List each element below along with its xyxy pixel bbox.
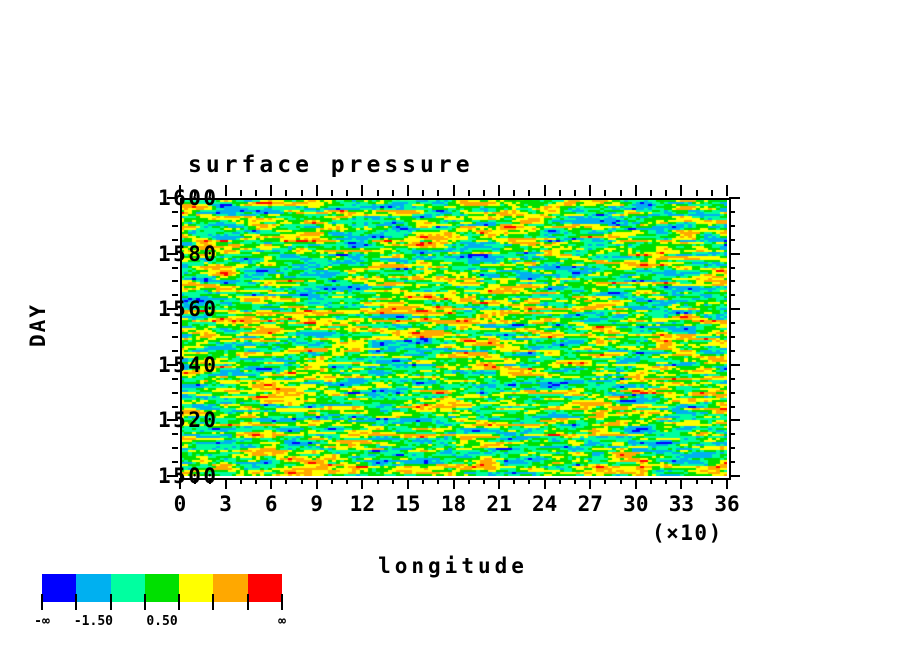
x-minor-tick-top bbox=[650, 190, 652, 196]
x-minor-tick-top bbox=[331, 190, 333, 196]
x-minor-tick-bottom bbox=[665, 478, 667, 484]
y-minor-tick-right bbox=[729, 378, 735, 380]
y-minor-tick-left bbox=[172, 294, 178, 296]
x-tick-label: 15 bbox=[395, 492, 420, 516]
y-minor-tick-left bbox=[172, 225, 178, 227]
colorbar-tick bbox=[178, 594, 180, 610]
heatmap-plot-area bbox=[180, 198, 727, 476]
x-tick-label: 30 bbox=[623, 492, 648, 516]
y-minor-tick-right bbox=[729, 267, 735, 269]
x-minor-tick-bottom bbox=[392, 478, 394, 484]
y-minor-tick-left bbox=[172, 392, 178, 394]
colorbar-band-orange bbox=[213, 574, 247, 602]
x-minor-tick-top bbox=[483, 190, 485, 196]
x-minor-tick-bottom bbox=[255, 478, 257, 484]
x-major-tick-bottom bbox=[316, 478, 318, 489]
x-minor-tick-top bbox=[711, 190, 713, 196]
y-major-tick-right bbox=[729, 197, 740, 199]
x-axis-multiplier-note: (×10) bbox=[652, 521, 723, 545]
colorbar-tick bbox=[41, 594, 43, 610]
colorbar-band-blue bbox=[42, 574, 76, 602]
x-tick-label: 9 bbox=[310, 492, 323, 516]
x-minor-tick-top bbox=[665, 190, 667, 196]
y-minor-tick-right bbox=[729, 294, 735, 296]
figure-canvas: surface pressure 0369121518212427303336 … bbox=[0, 0, 904, 654]
x-minor-tick-top bbox=[422, 190, 424, 196]
colorbar-label: -∞ bbox=[34, 614, 50, 629]
x-tick-label: 27 bbox=[578, 492, 603, 516]
x-major-tick-top bbox=[453, 185, 455, 196]
colorbar-tick bbox=[281, 594, 283, 610]
y-major-tick-right bbox=[729, 308, 740, 310]
y-major-tick-right bbox=[729, 253, 740, 255]
heatmap-image bbox=[180, 198, 727, 476]
x-minor-tick-bottom bbox=[301, 478, 303, 484]
x-major-tick-bottom bbox=[589, 478, 591, 489]
colorbar-band-yellow bbox=[179, 574, 213, 602]
y-minor-tick-right bbox=[729, 461, 735, 463]
x-major-tick-bottom bbox=[635, 478, 637, 489]
x-minor-tick-bottom bbox=[696, 478, 698, 484]
colorbar-band-cyan-blue bbox=[76, 574, 110, 602]
colorbar-tick bbox=[144, 594, 146, 610]
x-minor-tick-top bbox=[285, 190, 287, 196]
x-minor-tick-bottom bbox=[377, 478, 379, 484]
x-minor-tick-bottom bbox=[513, 478, 515, 484]
y-minor-tick-right bbox=[729, 322, 735, 324]
x-major-tick-top bbox=[680, 185, 682, 196]
y-major-tick-right bbox=[729, 419, 740, 421]
x-minor-tick-bottom bbox=[483, 478, 485, 484]
x-minor-tick-top bbox=[240, 190, 242, 196]
plot-title: surface pressure bbox=[188, 152, 474, 178]
y-minor-tick-left bbox=[172, 461, 178, 463]
y-minor-tick-right bbox=[729, 239, 735, 241]
y-minor-tick-left bbox=[172, 267, 178, 269]
x-major-tick-top bbox=[635, 185, 637, 196]
colorbar-band-green bbox=[145, 574, 179, 602]
y-minor-tick-right bbox=[729, 433, 735, 435]
y-minor-tick-left bbox=[172, 378, 178, 380]
colorbar-tick bbox=[212, 594, 214, 610]
x-minor-tick-bottom bbox=[559, 478, 561, 484]
x-major-tick-top bbox=[726, 185, 728, 196]
x-minor-tick-top bbox=[437, 190, 439, 196]
x-tick-label: 18 bbox=[441, 492, 466, 516]
x-minor-tick-top bbox=[255, 190, 257, 196]
colorbar-band-red bbox=[248, 574, 282, 602]
x-axis-title: longitude bbox=[378, 554, 528, 578]
x-major-tick-top bbox=[316, 185, 318, 196]
x-major-tick-bottom bbox=[498, 478, 500, 489]
x-minor-tick-bottom bbox=[331, 478, 333, 484]
colorbar-band-spring-green bbox=[111, 574, 145, 602]
colorbar-label: -1.50 bbox=[74, 614, 113, 629]
x-major-tick-top bbox=[225, 185, 227, 196]
x-minor-tick-top bbox=[468, 190, 470, 196]
x-tick-label: 33 bbox=[669, 492, 694, 516]
x-minor-tick-bottom bbox=[422, 478, 424, 484]
y-minor-tick-left bbox=[172, 280, 178, 282]
y-axis-title: DAY bbox=[26, 303, 50, 347]
x-minor-tick-bottom bbox=[574, 478, 576, 484]
x-major-tick-bottom bbox=[361, 478, 363, 489]
x-minor-tick-top bbox=[620, 190, 622, 196]
x-minor-tick-top bbox=[513, 190, 515, 196]
x-tick-label: 6 bbox=[265, 492, 278, 516]
x-tick-label: 0 bbox=[174, 492, 187, 516]
x-major-tick-bottom bbox=[726, 478, 728, 489]
y-minor-tick-right bbox=[729, 350, 735, 352]
y-minor-tick-left bbox=[172, 447, 178, 449]
x-minor-tick-bottom bbox=[468, 478, 470, 484]
x-minor-tick-bottom bbox=[604, 478, 606, 484]
y-minor-tick-right bbox=[729, 225, 735, 227]
x-minor-tick-top bbox=[346, 190, 348, 196]
x-minor-tick-bottom bbox=[650, 478, 652, 484]
colorbar-tick bbox=[247, 594, 249, 610]
x-tick-label: 3 bbox=[219, 492, 232, 516]
x-major-tick-top bbox=[498, 185, 500, 196]
x-minor-tick-top bbox=[392, 190, 394, 196]
x-major-tick-bottom bbox=[270, 478, 272, 489]
x-minor-tick-top bbox=[574, 190, 576, 196]
x-major-tick-top bbox=[407, 185, 409, 196]
colorbar-tick bbox=[110, 594, 112, 610]
y-minor-tick-right bbox=[729, 336, 735, 338]
y-minor-tick-left bbox=[172, 322, 178, 324]
y-minor-tick-left bbox=[172, 336, 178, 338]
x-minor-tick-bottom bbox=[620, 478, 622, 484]
x-minor-tick-bottom bbox=[437, 478, 439, 484]
y-minor-tick-left bbox=[172, 350, 178, 352]
x-major-tick-bottom bbox=[680, 478, 682, 489]
x-minor-tick-top bbox=[559, 190, 561, 196]
y-major-tick-right bbox=[729, 475, 740, 477]
x-tick-label: 21 bbox=[486, 492, 511, 516]
x-major-tick-top bbox=[589, 185, 591, 196]
x-major-tick-bottom bbox=[453, 478, 455, 489]
x-major-tick-top bbox=[361, 185, 363, 196]
x-minor-tick-top bbox=[377, 190, 379, 196]
x-minor-tick-bottom bbox=[528, 478, 530, 484]
y-minor-tick-right bbox=[729, 447, 735, 449]
x-major-tick-bottom bbox=[544, 478, 546, 489]
y-minor-tick-right bbox=[729, 211, 735, 213]
colorbar-tick bbox=[75, 594, 77, 610]
x-minor-tick-bottom bbox=[711, 478, 713, 484]
x-minor-tick-top bbox=[696, 190, 698, 196]
y-minor-tick-right bbox=[729, 392, 735, 394]
y-minor-tick-right bbox=[729, 406, 735, 408]
y-minor-tick-right bbox=[729, 280, 735, 282]
x-major-tick-bottom bbox=[407, 478, 409, 489]
x-minor-tick-bottom bbox=[240, 478, 242, 484]
x-tick-label: 36 bbox=[714, 492, 739, 516]
x-major-tick-top bbox=[544, 185, 546, 196]
x-tick-label: 12 bbox=[350, 492, 375, 516]
x-minor-tick-bottom bbox=[285, 478, 287, 484]
x-minor-tick-top bbox=[604, 190, 606, 196]
y-minor-tick-left bbox=[172, 433, 178, 435]
x-tick-label: 24 bbox=[532, 492, 557, 516]
y-major-tick-right bbox=[729, 364, 740, 366]
x-minor-tick-top bbox=[301, 190, 303, 196]
colorbar-label: ∞ bbox=[278, 614, 286, 629]
x-major-tick-bottom bbox=[225, 478, 227, 489]
y-minor-tick-left bbox=[172, 211, 178, 213]
x-minor-tick-bottom bbox=[346, 478, 348, 484]
x-minor-tick-top bbox=[528, 190, 530, 196]
colorbar-label: 0.50 bbox=[146, 614, 177, 629]
x-major-tick-top bbox=[270, 185, 272, 196]
